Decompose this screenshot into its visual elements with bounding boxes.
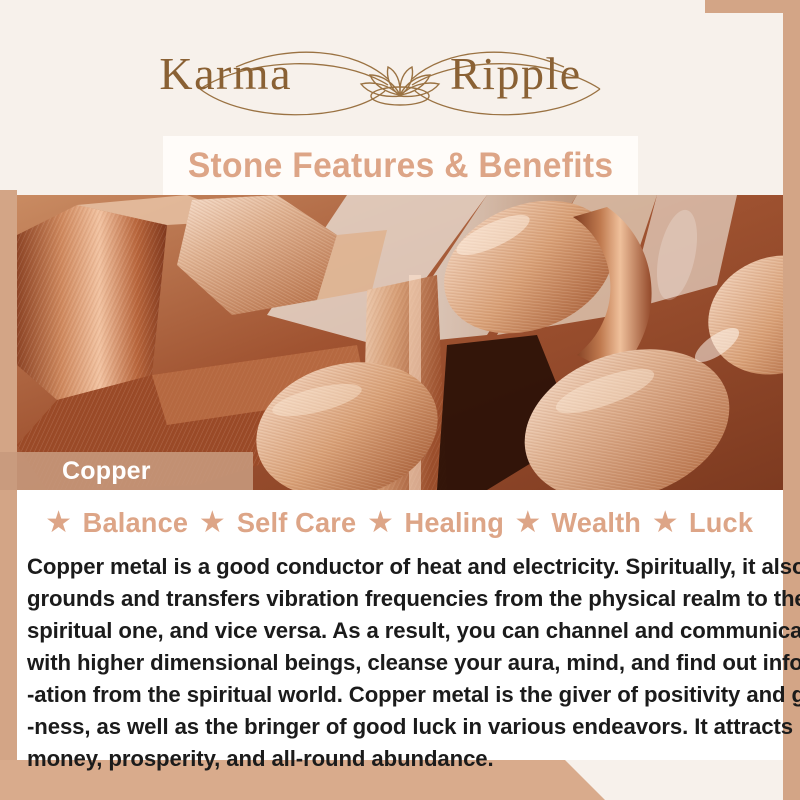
benefits-row: ★ Balance ★ Self Care ★ Healing ★ Wealth… — [17, 490, 783, 539]
description-line: Copper metal is a good conductor of heat… — [27, 551, 764, 583]
description-line: -ation from the spiritual world. Copper … — [27, 679, 764, 711]
star-icon: ★ — [195, 508, 230, 538]
description-line: money, prosperity, and all-round abundan… — [27, 743, 764, 775]
description-line: with higher dimensional beings, cleanse … — [27, 647, 764, 679]
benefit-wealth: Wealth — [547, 507, 646, 539]
lotus-icon — [361, 67, 439, 105]
brand-name-right: Ripple — [450, 48, 582, 99]
content-panel: ★ Balance ★ Self Care ★ Healing ★ Wealth… — [17, 490, 783, 760]
benefit-balance: Balance — [78, 507, 193, 539]
photo-caption-bar: Copper — [0, 452, 253, 490]
star-icon: ★ — [41, 508, 76, 538]
benefit-healing: Healing — [400, 507, 509, 539]
description-line: grounds and transfers vibration frequenc… — [27, 583, 764, 615]
description-line: spiritual one, and vice versa. As a resu… — [27, 615, 764, 647]
description-text: Copper metal is a good conductor of heat… — [27, 551, 764, 775]
benefit-self-care: Self Care — [232, 507, 361, 539]
star-icon: ★ — [648, 508, 683, 538]
infographic-page: Karma Ripple Stone Features & Benefits — [0, 0, 800, 800]
brand-name-left: Karma — [159, 48, 292, 99]
star-icon: ★ — [510, 508, 545, 538]
product-photo — [17, 195, 783, 490]
page-title: Stone Features & Benefits — [188, 146, 613, 186]
benefit-luck: Luck — [684, 507, 758, 539]
photo-caption-label: Copper — [62, 457, 151, 486]
frame-strip-left — [0, 190, 17, 800]
copper-bars-illustration — [17, 195, 783, 490]
logo-artwork: Karma Ripple — [140, 27, 660, 127]
title-band: Stone Features & Benefits — [163, 136, 638, 195]
description-line: -ness, as well as the bringer of good lu… — [27, 711, 764, 743]
brand-logo: Karma Ripple — [0, 24, 800, 129]
star-icon: ★ — [363, 508, 398, 538]
